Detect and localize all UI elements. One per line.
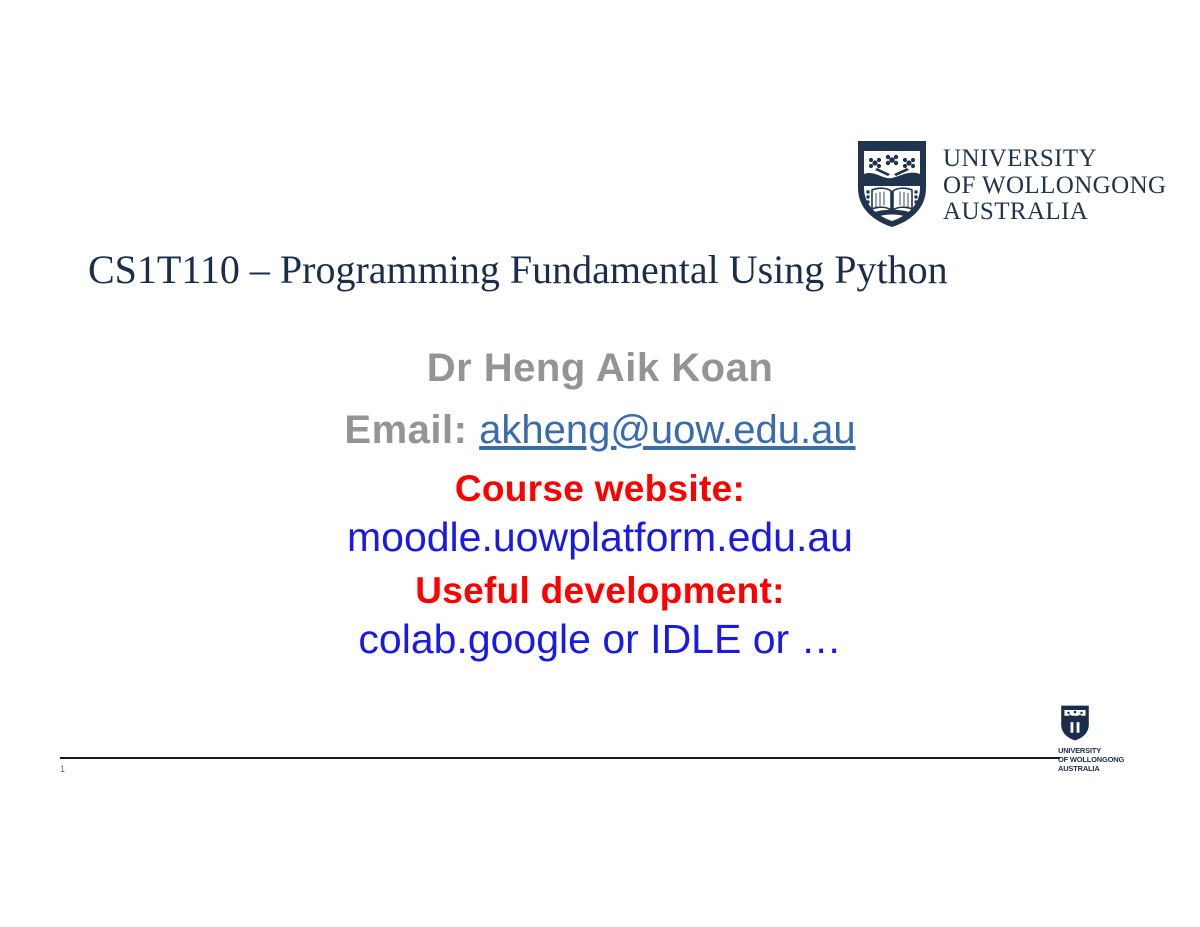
- uow-shield-icon: [1060, 703, 1090, 743]
- slide-body: Dr Heng Aik Koan Email: akheng@uow.edu.a…: [100, 348, 1100, 660]
- uow-shield-icon: [855, 138, 929, 230]
- uow-wordmark-footer: UNIVERSITY OF WOLLONGONG AUSTRALIA: [1058, 746, 1138, 773]
- course-website-url[interactable]: moodle.uowplatform.edu.au: [100, 517, 1100, 572]
- uow-wordmark-line-2: OF WOLLONGONG: [943, 173, 1166, 200]
- useful-development-value[interactable]: colab.google or IDLE or …: [100, 619, 1100, 660]
- useful-development-label: Useful development:: [100, 572, 1100, 619]
- uow-footer-wordmark-line-2: OF WOLLONGONG: [1058, 755, 1138, 764]
- slide-title: CS1T110 – Programming Fundamental Using …: [88, 248, 1088, 293]
- uow-footer-wordmark-line-3: AUSTRALIA: [1058, 764, 1138, 773]
- uow-wordmark: UNIVERSITY OF WOLLONGONG AUSTRALIA: [943, 138, 1166, 226]
- email-label: Email:: [344, 408, 467, 452]
- uow-footer-wordmark-line-1: UNIVERSITY: [1058, 746, 1138, 755]
- uow-logo-header: UNIVERSITY OF WOLLONGONG AUSTRALIA: [855, 138, 1155, 234]
- footer-divider: [60, 757, 1060, 759]
- page-number: 1: [60, 765, 65, 774]
- uow-logo-footer: UNIVERSITY OF WOLLONGONG AUSTRALIA: [1058, 703, 1138, 793]
- email-line: Email: akheng@uow.edu.au: [100, 410, 1100, 470]
- uow-wordmark-line-1: UNIVERSITY: [943, 146, 1166, 173]
- course-website-label: Course website:: [100, 470, 1100, 517]
- presenter-name: Dr Heng Aik Koan: [100, 348, 1100, 410]
- slide-canvas: UNIVERSITY OF WOLLONGONG AUSTRALIA CS1T1…: [0, 0, 1200, 927]
- uow-wordmark-line-3: AUSTRALIA: [943, 199, 1166, 226]
- email-link[interactable]: akheng@uow.edu.au: [479, 408, 855, 452]
